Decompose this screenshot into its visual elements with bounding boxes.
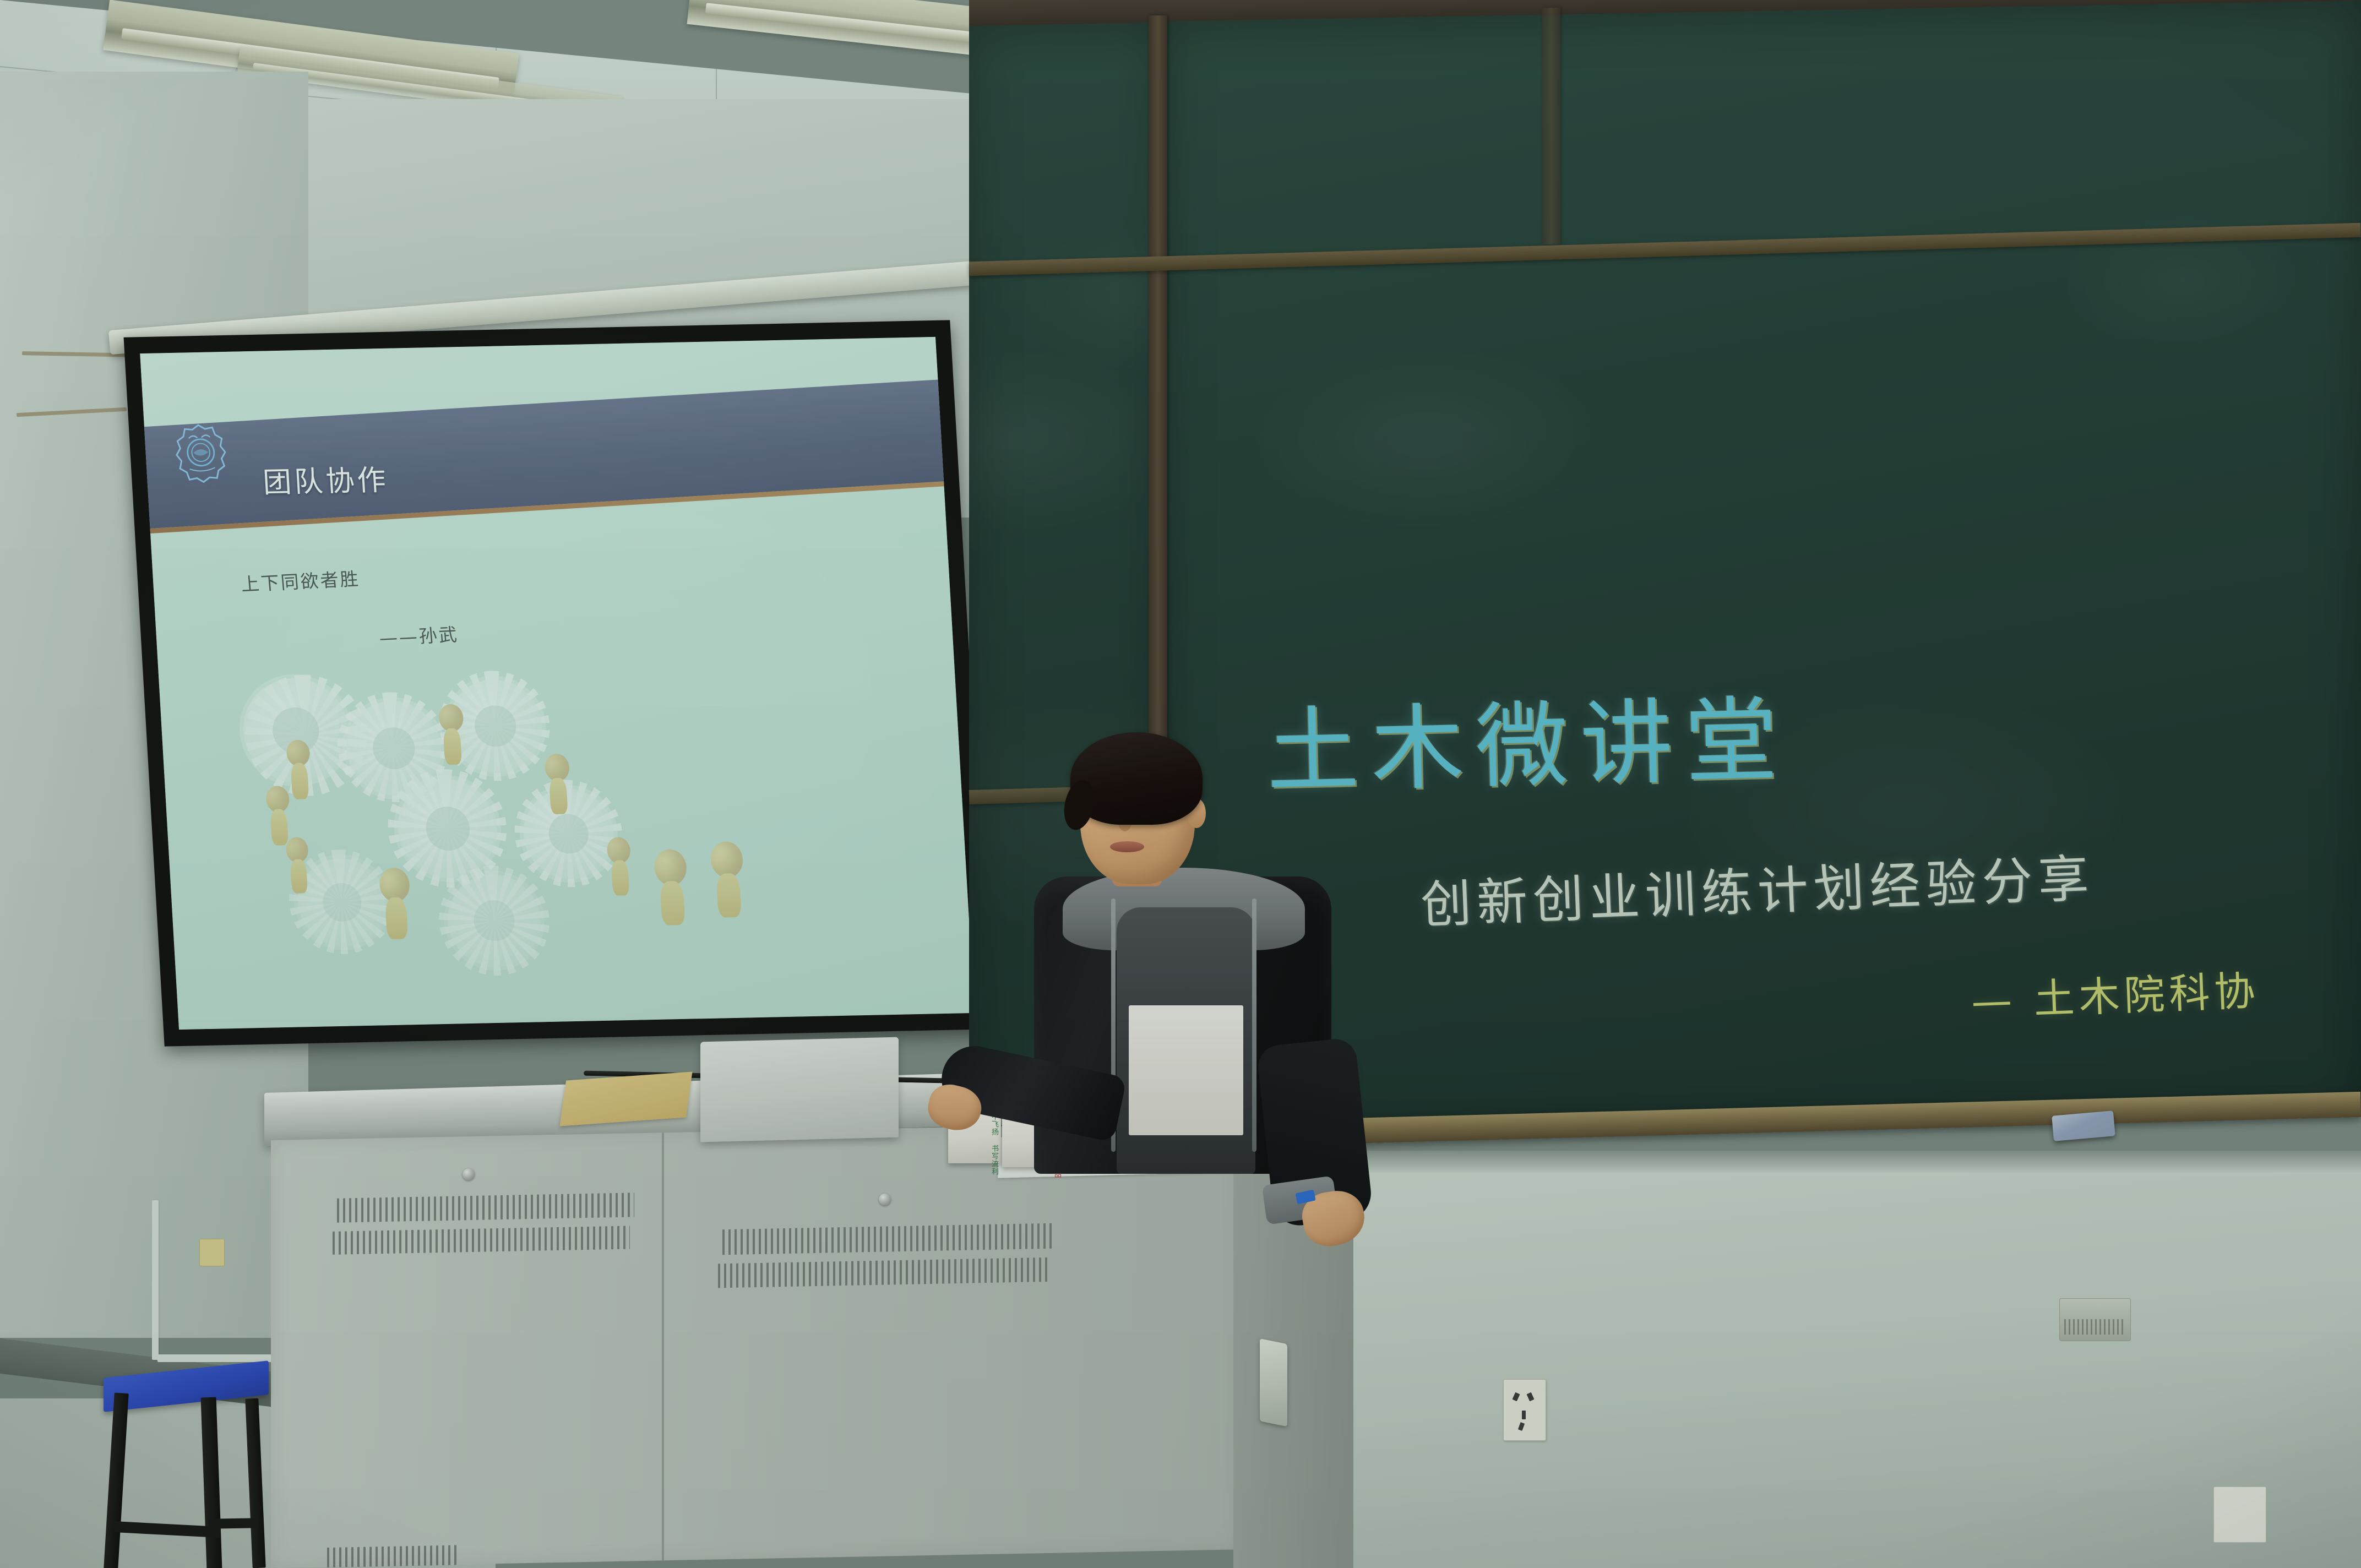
ventilation-slots [722,1223,1053,1255]
slide-quote: 上下同欲者胜 [240,564,361,596]
slide-title-bar [140,378,974,529]
blackboard-divider [1149,15,1167,809]
stool-rail [208,1518,259,1529]
presenter-torso [1034,876,1331,1174]
ventilation-slots [333,1226,630,1254]
teamwork-figure [545,754,574,816]
slide-title: 团队协作 [262,456,389,500]
wall-conduit [152,1200,159,1360]
teamwork-figure [653,848,692,925]
ventilation-slots [337,1193,634,1222]
presenter-mouth [1110,841,1144,852]
blackboard-attribution: — 土木院科协 [1970,958,2260,1028]
chalkboard-eraser[interactable] [2052,1110,2115,1141]
power-outlet[interactable] [1503,1379,1546,1441]
jacket-zipper [1252,899,1256,1152]
teamwork-figure [438,704,468,766]
blackboard-divider [1542,8,1560,245]
lectern-side-handle[interactable] [1260,1338,1287,1427]
teamwork-figure [379,868,415,940]
university-seal-icon [172,421,231,486]
ventilation-slots [327,1545,459,1567]
yellow-switch[interactable] [199,1239,225,1266]
projector-screen-frame: 团队协作 上下同欲者胜 ——孙武 [124,320,991,1046]
classroom-scene: 团队协作 上下同欲者胜 ——孙武 [0,0,2361,1568]
cabinet-lock[interactable] [463,1168,475,1180]
wall-data-plate[interactable] [2213,1487,2266,1543]
ventilation-slots [718,1257,1048,1288]
lectern-cabinet [271,1121,1240,1568]
teamwork-gears-illustration [230,658,822,994]
laptop[interactable] [700,1037,899,1142]
teamwork-figure [710,841,748,917]
blackboard-main-title: 土木微讲堂 [1265,665,1791,810]
presenter-sweater-panel [1129,1005,1243,1135]
teamwork-figure [607,837,635,897]
projector-screen-surface: 团队协作 上下同欲者胜 ——孙武 [140,337,974,1030]
lower-right-wall [1310,1167,2361,1568]
wall-network-box [2059,1298,2131,1341]
cabinet-lock[interactable] [879,1193,891,1205]
presentation-slide: 团队协作 上下同欲者胜 ——孙武 [140,337,974,1030]
folder[interactable] [559,1071,692,1126]
presenter-sweater [1117,907,1255,1174]
cabinet-door-split [662,1133,664,1560]
wall-conduit [157,1354,273,1362]
slide-attribution: ——孙武 [378,620,460,650]
presenter-hair [1070,732,1203,825]
presenter [1030,716,1338,1173]
teamwork-figure [285,837,314,895]
